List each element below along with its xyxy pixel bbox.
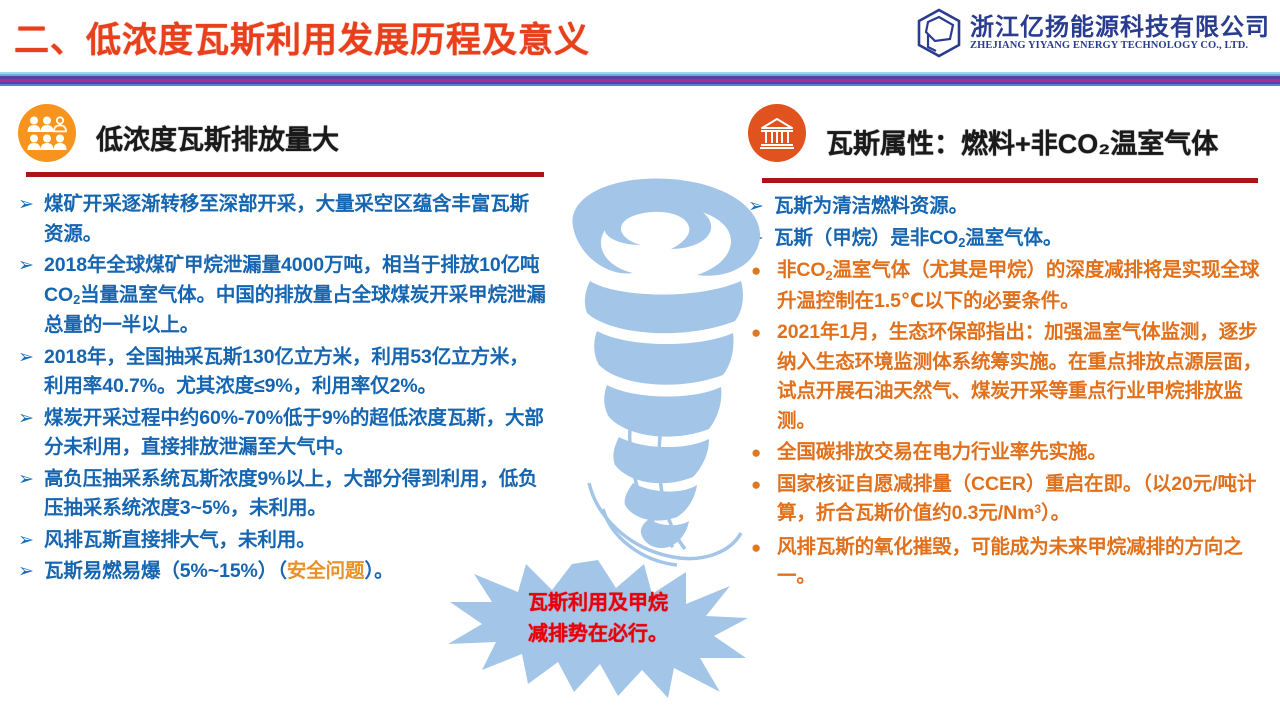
list-item: ➢煤炭开采过程中约60%-70%低于9%的超低浓度瓦斯，大部分未利用，直接排放泄… [18, 404, 548, 463]
right-section: 瓦斯属性：燃料+非CO₂温室气体 ➢瓦斯为清洁燃料资源。➢瓦斯（甲烷）是非CO2… [748, 104, 1272, 166]
right-section-rule [762, 178, 1258, 183]
list-item-text: 2018年，全国抽采瓦斯130亿立方米，利用53亿立方米，利用率40.7%。尤其… [44, 343, 548, 402]
right-section-header: 瓦斯属性：燃料+非CO₂温室气体 [748, 104, 1272, 166]
list-item: ➢高负压抽采系统瓦斯浓度9%以上，大部分得到利用，低负压抽采系统浓度3~5%，未… [18, 465, 548, 524]
left-section: 低浓度瓦斯排放量大 ➢煤矿开采逐渐转移至深部开采，大量采空区蕴含丰富瓦斯资源。➢… [18, 104, 548, 166]
list-item: ●2021年1月，生态环保部指出：加强温室气体监测，逐步纳入生态环境监测体系统筹… [748, 318, 1272, 436]
list-item-text: 瓦斯（甲烷）是非CO2温室气体。 [774, 224, 1062, 255]
list-item: ●非CO2温室气体（尤其是甲烷）的深度减排将是实现全球升温控制在1.5℃以下的必… [748, 256, 1272, 316]
bullet-arrow-icon: ➢ [18, 465, 44, 494]
list-item: ●全国碳排放交易在电力行业率先实施。 [748, 438, 1272, 468]
hexagon-logo-icon [916, 8, 962, 58]
list-item-text: 煤炭开采过程中约60%-70%低于9%的超低浓度瓦斯，大部分未利用，直接排放泄漏… [44, 404, 548, 463]
tornado-illustration [545, 165, 785, 585]
starburst-callout: 瓦斯利用及甲烷 减排势在必行。 [448, 558, 748, 698]
list-item-text: 非CO2温室气体（尤其是甲烷）的深度减排将是实现全球升温控制在1.5℃以下的必要… [777, 256, 1272, 316]
list-item: ➢瓦斯（甲烷）是非CO2温室气体。 [748, 224, 1272, 255]
logo-company-name-cn: 浙江亿扬能源科技有限公司 [970, 15, 1270, 40]
left-section-rule [26, 172, 544, 177]
list-item: ➢煤矿开采逐渐转移至深部开采，大量采空区蕴含丰富瓦斯资源。 [18, 190, 548, 249]
list-item-text: 瓦斯为清洁燃料资源。 [774, 192, 968, 222]
logo-company-name-en: ZHEJIANG YIYANG ENERGY TECHNOLOGY CO., L… [970, 40, 1270, 51]
list-item: ●风排瓦斯的氧化摧毁，可能成为未来甲烷减排的方向之一。 [748, 533, 1272, 592]
bullet-arrow-icon: ➢ [18, 404, 44, 433]
list-item-text: 高负压抽采系统瓦斯浓度9%以上，大部分得到利用，低负压抽采系统浓度3~5%，未利… [44, 465, 548, 524]
bullet-arrow-icon: ➢ [18, 343, 44, 372]
bullet-arrow-icon: ➢ [18, 557, 44, 586]
slide-header: 二、低浓度瓦斯利用发展历程及意义 浙江亿扬能源科技有限公司 ZHEJIANG Y… [0, 0, 1280, 92]
list-item-text: 2018年全球煤矿甲烷泄漏量4000万吨，相当于排放10亿吨CO2当量温室气体。… [44, 251, 548, 341]
list-item-text: 风排瓦斯的氧化摧毁，可能成为未来甲烷减排的方向之一。 [777, 533, 1272, 592]
list-item-text: 国家核证自愿减排量（CCER）重启在即。（以20元/吨计算，折合瓦斯价值约0.3… [777, 470, 1272, 531]
people-group-icon [18, 104, 76, 162]
bullet-arrow-icon: ➢ [18, 526, 44, 555]
list-item-text: 瓦斯易燃易爆（5%~15%）（安全问题）。 [44, 557, 394, 587]
starburst-callout-text: 瓦斯利用及甲烷 减排势在必行。 [448, 588, 748, 650]
page-title: 二、低浓度瓦斯利用发展历程及意义 [14, 12, 590, 63]
list-item-text: 全国碳排放交易在电力行业率先实施。 [777, 438, 1107, 468]
list-item-text: 煤矿开采逐渐转移至深部开采，大量采空区蕴含丰富瓦斯资源。 [44, 190, 548, 249]
bank-building-icon [748, 104, 806, 162]
right-section-title: 瓦斯属性：燃料+非CO₂温室气体 [826, 122, 1218, 161]
company-logo: 浙江亿扬能源科技有限公司 ZHEJIANG YIYANG ENERGY TECH… [916, 8, 1270, 58]
bullet-arrow-icon: ➢ [18, 190, 44, 219]
list-item-text: 2021年1月，生态环保部指出：加强温室气体监测，逐步纳入生态环境监测体系统筹实… [777, 318, 1272, 436]
callout-line-2: 减排势在必行。 [448, 619, 748, 650]
bullet-arrow-icon: ➢ [18, 251, 44, 280]
list-item: ➢风排瓦斯直接排大气，未利用。 [18, 526, 548, 556]
list-item: ●国家核证自愿减排量（CCER）重启在即。（以20元/吨计算，折合瓦斯价值约0.… [748, 470, 1272, 531]
callout-line-1: 瓦斯利用及甲烷 [448, 588, 748, 619]
left-section-title: 低浓度瓦斯排放量大 [96, 118, 339, 157]
list-item: ➢瓦斯为清洁燃料资源。 [748, 192, 1272, 222]
list-item: ➢2018年全球煤矿甲烷泄漏量4000万吨，相当于排放10亿吨CO2当量温室气体… [18, 251, 548, 341]
left-bullet-list: ➢煤矿开采逐渐转移至深部开采，大量采空区蕴含丰富瓦斯资源。➢2018年全球煤矿甲… [18, 190, 548, 589]
list-item-text: 风排瓦斯直接排大气，未利用。 [44, 526, 316, 556]
right-bullet-list: ➢瓦斯为清洁燃料资源。➢瓦斯（甲烷）是非CO2温室气体。●非CO2温室气体（尤其… [748, 192, 1272, 594]
left-section-header: 低浓度瓦斯排放量大 [18, 104, 548, 166]
header-divider [0, 72, 1280, 86]
list-item: ➢2018年，全国抽采瓦斯130亿立方米，利用53亿立方米，利用率40.7%。尤… [18, 343, 548, 402]
